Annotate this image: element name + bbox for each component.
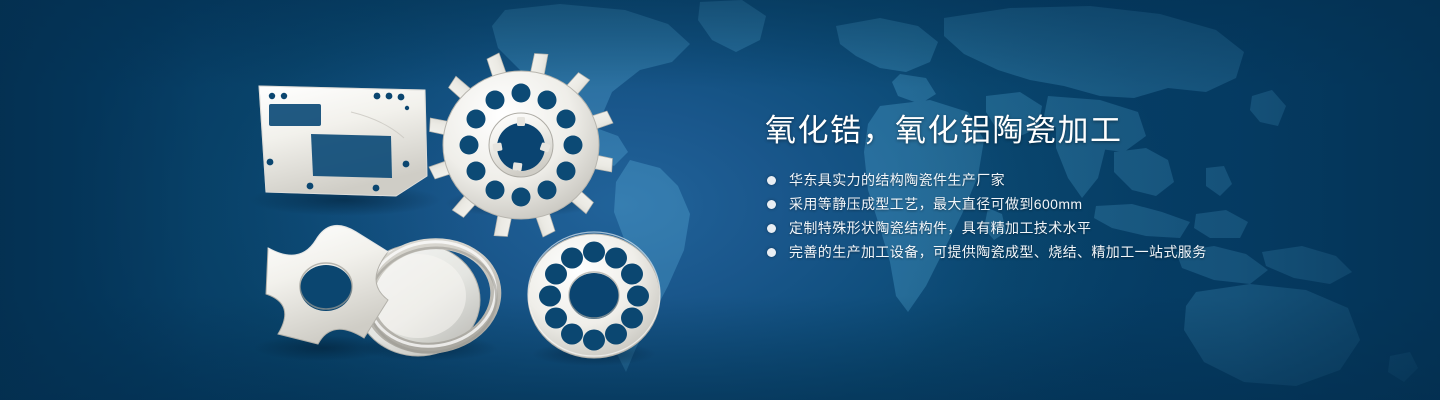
hero-banner: 氧化锆，氧化铝陶瓷加工 华东具实力的结构陶瓷件生产厂家 采用等静压成型工艺，最大… <box>0 0 1440 400</box>
list-item: 华东具实力的结构陶瓷件生产厂家 <box>765 172 1385 188</box>
bullet-dot-icon <box>767 176 776 185</box>
bullet-dot-icon <box>767 200 776 209</box>
feature-list: 华东具实力的结构陶瓷件生产厂家 采用等静压成型工艺，最大直径可做到600mm 定… <box>765 172 1385 260</box>
bullet-dot-icon <box>767 248 776 257</box>
banner-headline: 氧化锆，氧化铝陶瓷加工 <box>765 113 1123 149</box>
product-ceramic-cross-shaped-part <box>254 226 390 361</box>
ceramic-products-group <box>0 0 740 400</box>
list-item: 完善的生产加工设备，可提供陶瓷成型、烧结、精加工一站式服务 <box>765 244 1385 260</box>
list-item: 采用等静压成型工艺，最大直径可做到600mm <box>765 196 1385 212</box>
list-item-label: 定制特殊形状陶瓷结构件，具有精加工技术水平 <box>789 220 1091 236</box>
list-item-label: 完善的生产加工设备，可提供陶瓷成型、烧结、精加工一站式服务 <box>789 244 1207 260</box>
product-ceramic-machined-plate <box>249 86 441 216</box>
list-item-label: 采用等静压成型工艺，最大直径可做到600mm <box>789 196 1082 212</box>
product-ceramic-perforated-disc <box>528 232 660 366</box>
banner-copy: 氧化锆，氧化铝陶瓷加工 华东具实力的结构陶瓷件生产厂家 采用等静压成型工艺，最大… <box>765 0 1405 400</box>
list-item-label: 华东具实力的结构陶瓷件生产厂家 <box>789 172 1005 188</box>
list-item: 定制特殊形状陶瓷结构件，具有精加工技术水平 <box>765 220 1385 236</box>
product-ceramic-vaned-impeller <box>424 48 617 241</box>
bullet-dot-icon <box>767 224 776 233</box>
